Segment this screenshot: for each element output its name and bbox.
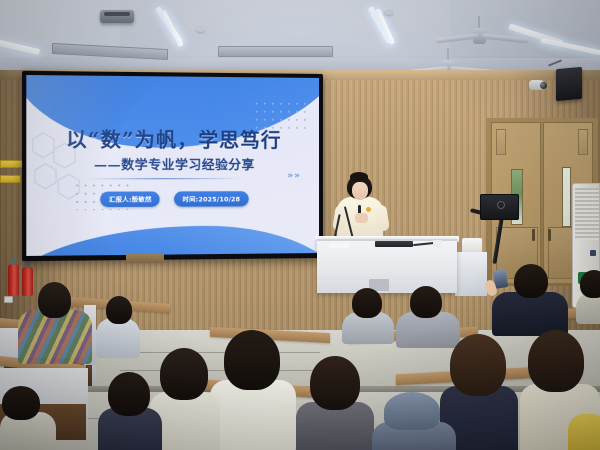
projection-screen: 以“数”为帆，学思笃行 ——数学专业学习经验分享 »» 汇报人:殷敏然 时间:2…: [22, 71, 323, 261]
laptop: [375, 241, 413, 247]
ac-display: [590, 250, 596, 256]
student: [372, 392, 456, 450]
student-in-patterned-cardigan: [18, 282, 98, 362]
student-head: [108, 372, 150, 416]
student-head: [352, 288, 382, 318]
slide-surface: 以“数”为帆，学思笃行 ——数学专业学习经验分享 »» 汇报人:殷敏然 时间:2…: [26, 75, 319, 256]
student: [576, 270, 600, 320]
security-camera-icon: [529, 80, 544, 90]
wall-speaker: [556, 67, 582, 101]
student-head: [580, 270, 600, 298]
student-head: [106, 296, 132, 324]
student-head: [38, 282, 71, 318]
ac-vent-grill: [575, 188, 599, 240]
student-in-blue-cap: [210, 330, 296, 450]
student: [96, 296, 142, 354]
student-head: [528, 330, 584, 392]
student-head: [450, 334, 506, 396]
student-head: [310, 356, 360, 410]
presenter-badge: 汇报人:殷敏然: [101, 191, 160, 207]
student-body: [96, 318, 140, 358]
student: [0, 386, 56, 450]
student-with-phone: [492, 264, 568, 332]
cable: [413, 242, 435, 246]
air-vent: [218, 46, 333, 57]
slide-divider: [86, 178, 241, 179]
wall-sign: [0, 175, 21, 183]
student-body: [568, 414, 600, 450]
date-badge: 时间:2025/10/28: [174, 191, 248, 206]
screen-brand-logo: [133, 258, 163, 268]
student-head: [2, 386, 40, 420]
student-body: [18, 310, 92, 364]
lecture-hall-photo: 以“数”为帆，学思笃行 ——数学专业学习经验分享 »» 汇报人:殷敏然 时间:2…: [0, 0, 600, 450]
smoke-detector: [196, 27, 205, 32]
monitor-on-arm[interactable]: [480, 194, 519, 220]
student: [568, 392, 600, 450]
smoke-detector: [384, 10, 393, 15]
presenter-badge-pin: [366, 207, 371, 212]
wall-outlet[interactable]: [4, 296, 13, 303]
slide-subtitle: ——数学专业学习经验分享: [26, 154, 319, 174]
presenter-face: [352, 182, 368, 200]
wall-sign: [0, 160, 23, 168]
student-head: [514, 264, 548, 298]
presenter-hands: [355, 213, 368, 223]
papers: [329, 243, 349, 248]
small-device: [433, 240, 442, 248]
presenter-hair-bun: [350, 172, 368, 181]
student-head: [410, 286, 442, 318]
chevron-right-icon: »»: [287, 171, 301, 181]
student: [296, 356, 374, 450]
student: [98, 372, 162, 450]
student-head: [160, 348, 208, 400]
student-body: [210, 380, 296, 450]
door-handle[interactable]: [548, 229, 551, 241]
lectern-desk: [317, 239, 457, 293]
presenter: [333, 175, 389, 241]
student-head: [384, 392, 440, 430]
slide-badge-row: 汇报人:殷敏然 时间:2025/10/28: [26, 191, 319, 207]
slide-title: 以“数”为帆，学思笃行: [26, 123, 319, 153]
ceiling-projector: [100, 10, 134, 23]
door-handle[interactable]: [532, 229, 535, 241]
student-head: [224, 330, 280, 390]
student: [342, 288, 394, 340]
